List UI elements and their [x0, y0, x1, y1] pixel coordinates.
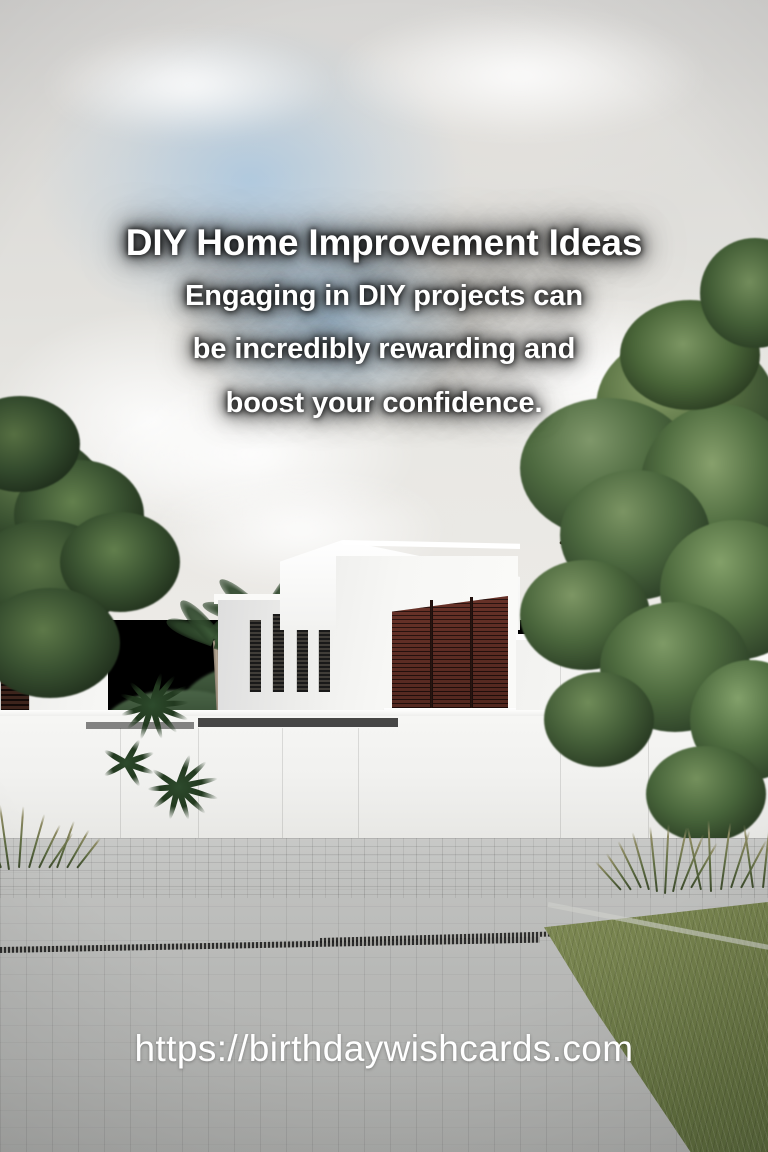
pinterest-pin-card: DIY Home Improvement Ideas Engaging in D… — [0, 0, 768, 1152]
ornamental-grass-left — [0, 0, 768, 1000]
